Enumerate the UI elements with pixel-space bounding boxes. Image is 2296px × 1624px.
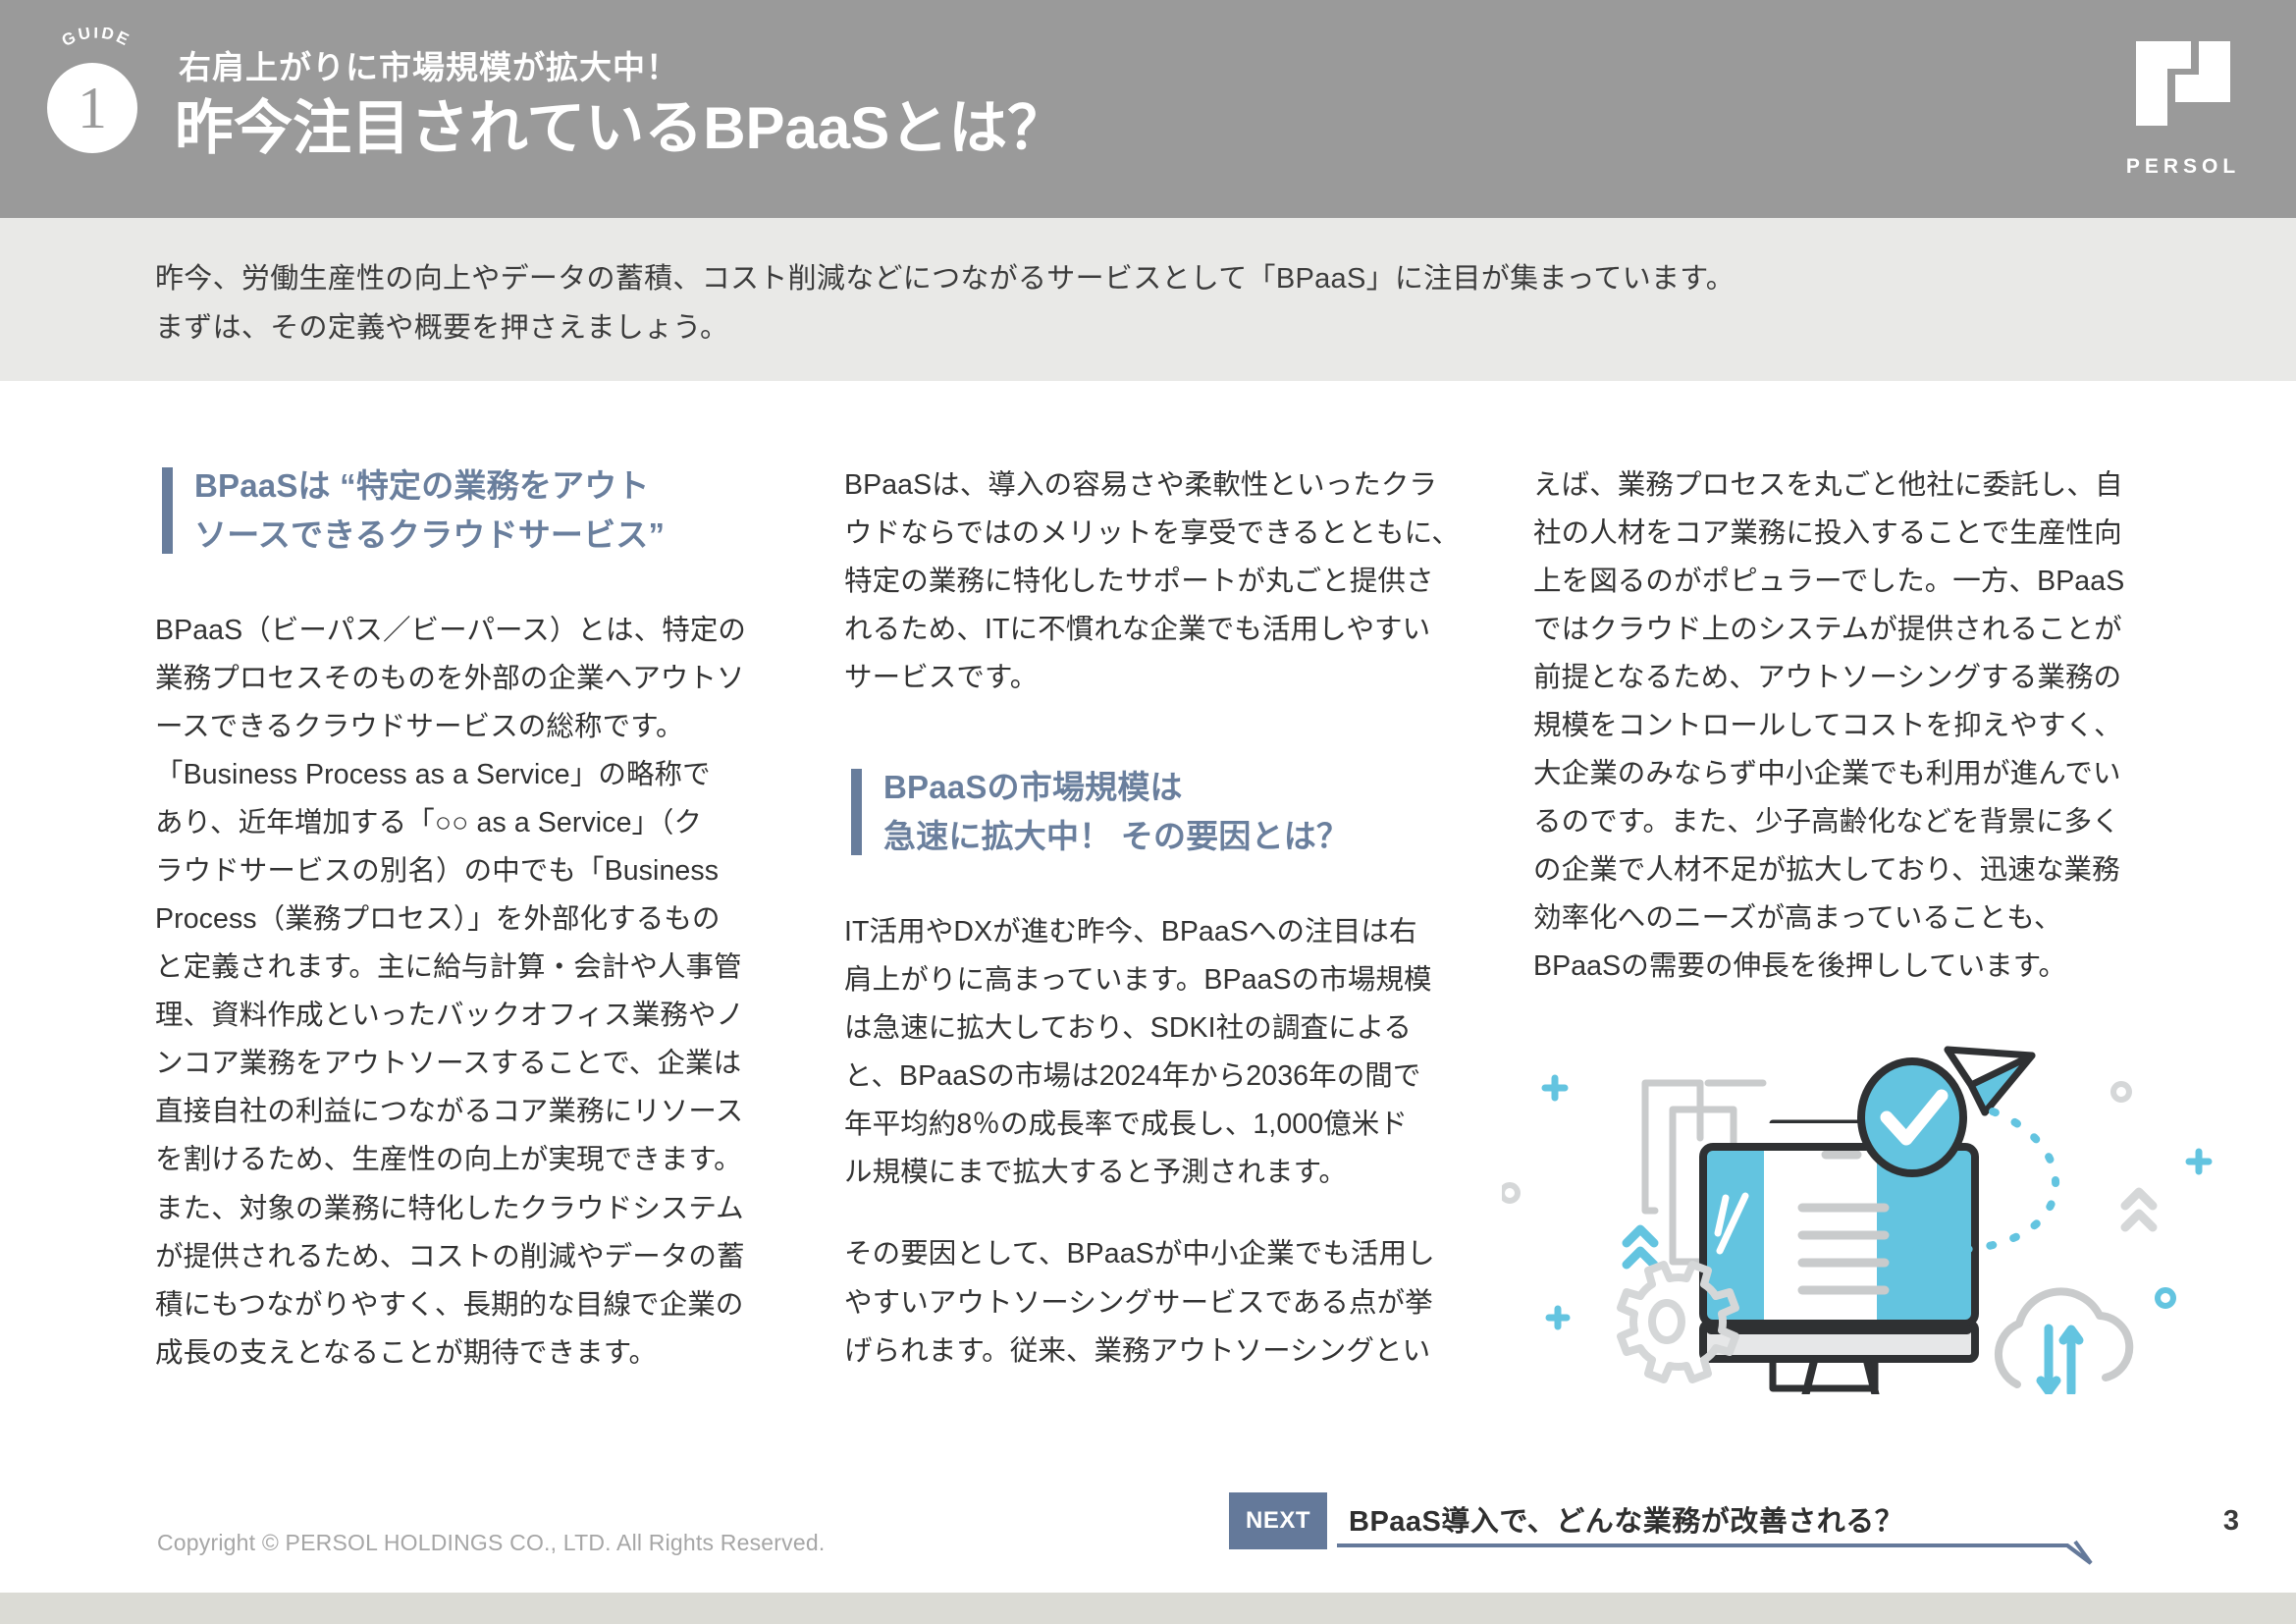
next-label: BPaaS導入で、どんな業務が改善される？ [1349,1498,1903,1540]
paragraph-col2-bottom: その要因として、BPaaSが中小企業でも活用し やすいアウトソーシングサービスで… [844,1230,1478,1375]
text-line: IT活用やDXが進む昨今、BPaaSへの注目は右 [844,908,1478,956]
intro-line-2: まずは、その定義や概要を押さえましょう。 [155,304,1735,353]
text-line: BPaaSの需要の伸長を後押ししています。 [1533,943,2167,991]
text-line: ではクラウド上のシステムが提供されることが [1533,606,2167,654]
text-line: 規模をコントロールしてコストを抑えやすく、 [1533,702,2167,750]
paragraph-col2-mid: IT活用やDXが進む昨今、BPaaSへの注目は右 肩上がりに高まっています。BP… [844,908,1478,1197]
paragraph-col1: BPaaS（ビーパス／ビーパース）とは、特定の 業務プロセスそのものを外部の企業… [155,607,789,1377]
next-section-link[interactable]: NEXT BPaaS導入で、どんな業務が改善される？ [1229,1492,2162,1557]
text-line: が提供されるため、コストの削減やデータの蓄 [155,1233,789,1281]
text-line: Process（業務プロセス）」を外部化するもの [155,895,789,944]
heading-line: ソースできるクラウドサービス” [194,511,789,560]
text-line: 直接自社の利益につながるコア業務にリソース [155,1088,789,1136]
text-line: BPaaS（ビーパス／ビーパース）とは、特定の [155,607,789,655]
next-arrow-icon [1337,1540,2162,1567]
text-line: 上を図るのがポピュラーでした。一方、BPaaS [1533,558,2167,606]
persol-logo: PERSOL [2124,41,2242,179]
text-line: ウドならではのメリットを享受できるとともに、 [844,510,1478,558]
text-line: 業務プロセスそのものを外部の企業へアウトソ [155,655,789,703]
text-line: れるため、ITに不慣れな企業でも活用しやすい [844,606,1478,654]
text-line: えば、業務プロセスを丸ごと他社に委託し、自 [1533,461,2167,510]
bottom-band [0,1593,2296,1624]
text-line: 「Business Process as a Service」の略称で [155,751,789,799]
page-title: 昨今注目されているBPaaSとは？ [175,81,1066,166]
intro-line-1: 昨今、労働生産性の向上やデータの蓄積、コスト削減などにつながるサービスとして「B… [155,255,1735,304]
text-line: その要因として、BPaaSが中小企業でも活用し [844,1230,1478,1278]
text-line: 年平均約8％の成長率で成長し、1,000億米ド [844,1101,1478,1149]
column-2: BPaaSは、導入の容易さや柔軟性といったクラ ウドならではのメリットを享受でき… [844,461,1478,1376]
text-line: やすいアウトソーシングサービスである点が挙 [844,1279,1478,1327]
text-line: げられます。従来、業務アウトソーシングとい [844,1327,1478,1376]
text-line: 特定の業務に特化したサポートが丸ごと提供さ [844,558,1478,606]
text-line: ンコア業務をアウトソースすることで、企業は [155,1040,789,1088]
text-line: ースできるクラウドサービスの総称です。 [155,703,789,751]
persol-mark-icon [2136,41,2230,147]
section-heading-market-size: BPaaSの市場規模は 急速に拡大中！ その要因とは？ [844,763,1478,861]
text-line: るのです。また、少子高齢化などを背景に多く [1533,798,2167,846]
text-line: サービスです。 [844,654,1478,702]
text-line: を割けるため、生産性の向上が実現できます。 [155,1136,789,1184]
text-line: 大企業のみならず中小企業でも利用が進んでい [1533,750,2167,798]
guide-number: 1 [78,79,107,137]
text-line: 成長の支えとなることが期待できます。 [155,1329,789,1378]
text-line: と、BPaaSの市場は2024年から2036年の間で [844,1053,1478,1101]
copyright-text: Copyright © PERSOL HOLDINGS CO., LTD. Al… [157,1530,825,1556]
guide-number-circle: 1 [47,63,137,153]
text-line: は急速に拡大しており、SDKI社の調査による [844,1004,1478,1053]
cloud-sync-icon [1999,1291,2129,1392]
intro-text: 昨今、労働生産性の向上やデータの蓄積、コスト削減などにつながるサービスとして「B… [155,255,1735,353]
section-heading-bpaas-definition: BPaaSは “特定の業務をアウト ソースできるクラウドサービス” [155,461,789,560]
page-number: 3 [2223,1505,2239,1538]
heading-line: BPaaSは “特定の業務をアウト [194,461,789,511]
monitor-document-check-cloud-illustration [1502,1001,2228,1394]
text-line: また、対象の業務に特化したクラウドシステム [155,1185,789,1233]
text-line: BPaaSは、導入の容易さや柔軟性といったクラ [844,461,1478,510]
guide-badge: GUIDE 1 [41,27,151,150]
column-3: えば、業務プロセスを丸ごと他社に委託し、自 社の人材をコア業務に投入することで生… [1533,461,2167,991]
check-badge-icon [1861,1061,1963,1173]
text-line: ル規模にまで拡大すると予測されます。 [844,1149,1478,1197]
text-line: 肩上がりに高まっています。BPaaSの市場規模 [844,956,1478,1004]
text-line: 効率化へのニーズが高まっていることも、 [1533,894,2167,943]
text-line: 社の人材をコア業務に投入することで生産性向 [1533,510,2167,558]
svg-text:GUIDE: GUIDE [59,27,133,50]
text-line: と定義されます。主に給与計算・会計や人事管 [155,944,789,992]
persol-wordmark: PERSOL [2124,155,2242,179]
next-badge: NEXT [1229,1492,1327,1549]
heading-line: BPaaSの市場規模は [883,763,1478,812]
intro-band: 昨今、労働生産性の向上やデータの蓄積、コスト削減などにつながるサービスとして「B… [0,218,2296,381]
heading-line: 急速に拡大中！ その要因とは？ [883,812,1478,861]
text-line: ラウドサービスの別名）の中でも「Business [155,847,789,895]
text-line: 積にもつながりやすく、長期的な目線で企業の [155,1281,789,1329]
text-line: の企業で人材不足が拡大しており、迅速な業務 [1533,846,2167,894]
text-line: 理、資料作成といったバックオフィス業務やノ [155,992,789,1040]
paragraph-col3: えば、業務プロセスを丸ごと他社に委託し、自 社の人材をコア業務に投入することで生… [1533,461,2167,991]
paragraph-col2-top: BPaaSは、導入の容易さや柔軟性といったクラ ウドならではのメリットを享受でき… [844,461,1478,702]
text-line: 前提となるため、アウトソーシングする業務の [1533,654,2167,702]
page-header: GUIDE 1 右肩上がりに市場規模が拡大中！ 昨今注目されているBPaaSとは… [0,0,2296,218]
text-line: あり、近年増加する「○○ as a Service」（ク [155,799,789,847]
column-1: BPaaSは “特定の業務をアウト ソースできるクラウドサービス” BPaaS（… [155,461,789,1378]
page: GUIDE 1 右肩上がりに市場規模が拡大中！ 昨今注目されているBPaaSとは… [0,0,2296,1624]
